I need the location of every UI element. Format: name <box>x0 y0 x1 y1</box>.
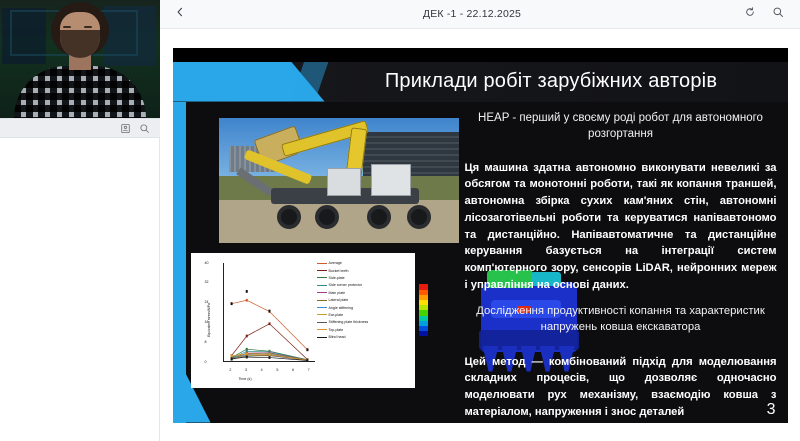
chart-x-tick: 5 <box>276 368 278 372</box>
top-bar: ДЕК -1 - 22.12.2025 <box>160 0 800 29</box>
slide-top-band <box>173 48 788 62</box>
fea-color-band <box>419 331 428 336</box>
chart-legend-swatch <box>317 285 327 286</box>
photo-wheel-2 <box>315 205 339 229</box>
chart-y-tick: 0 <box>205 360 207 364</box>
chevron-left-icon <box>174 5 186 23</box>
chart-legend-swatch <box>317 263 327 264</box>
fea-legend: B: Static Structural Equivalent StressTy… <box>419 254 471 337</box>
chart-y-tick: 8 <box>205 340 207 344</box>
topbar-actions <box>744 5 800 23</box>
chart-x-tick: 3 <box>245 368 247 372</box>
chart-legend-item: Lateral plate <box>317 296 409 303</box>
photo-wheel-4 <box>407 205 431 229</box>
chart-x-tick: 6 <box>292 368 294 372</box>
search-icon[interactable] <box>772 5 784 23</box>
chart-y-tick: 32 <box>205 280 209 284</box>
chart-legend-item: Ear-plate <box>317 311 409 318</box>
photo-wheel-1 <box>277 205 301 229</box>
chart-legend-item: Side-plate <box>317 274 409 281</box>
chart-legend-item: Blind head <box>317 333 409 340</box>
fea-scale-values: 28.62 Max25.4422.2619.08115.90112.7219.5… <box>428 284 450 336</box>
chart-legend-label: Side-plate <box>329 276 345 280</box>
fea-legend-line: 2023/8/24 17:08 <box>419 277 471 282</box>
participant-video-tile[interactable] <box>0 0 160 118</box>
chart-legend-label: Angle stiffening <box>329 306 354 310</box>
chart-legend-label: Stiffening plate thickness <box>329 320 369 324</box>
slide-heading-1: HEAP - перший у своєму роді робот для ав… <box>465 110 777 143</box>
chart-legend-item: Angle stiffening <box>317 304 409 311</box>
webcam-panel <box>0 0 160 441</box>
presentation-slide: Приклади робіт зарубіжних авторів <box>173 48 788 423</box>
chart-legend-swatch <box>317 337 327 338</box>
chart-legend-item: Bucket teeth <box>317 267 409 274</box>
fea-color-scale: 28.62 Max25.4422.2619.08115.90112.7219.5… <box>419 284 471 336</box>
chart-legend-label: Average <box>329 261 342 265</box>
chart-legend-swatch <box>317 307 327 308</box>
fea-legend-meta: Equivalent StressType: Equivalent (von-M… <box>419 258 471 282</box>
excavator-photo <box>219 118 459 243</box>
rotate-icon[interactable] <box>744 5 756 23</box>
photo-cabin-2 <box>371 164 411 196</box>
chart-legend-swatch <box>317 270 327 271</box>
chart-legend-swatch <box>317 329 327 330</box>
chart-legend-swatch <box>317 314 327 315</box>
chart-x-tick: 4 <box>261 368 263 372</box>
chart-inner: Equivalent stress/MPa 0816243240 234567 … <box>193 257 411 384</box>
chart-plot-area <box>223 263 315 362</box>
fea-color-bar <box>419 284 428 336</box>
chart-legend-swatch <box>317 322 327 323</box>
chart-legend-label: Bucket teeth <box>329 269 349 273</box>
chart-legend-label: Main plate <box>329 291 346 295</box>
search-zoom-icon[interactable] <box>139 123 150 134</box>
person-eye-left <box>63 26 71 28</box>
chart-legend-label: Ear-plate <box>329 313 344 317</box>
chart-legend-label: Side corner protector <box>329 283 363 287</box>
page-title: ДЕК -1 - 22.12.2025 <box>200 8 744 20</box>
slide-title: Приклади робіт зарубіжних авторів <box>325 62 778 102</box>
chart-x-tick: 7 <box>308 368 310 372</box>
webcam-toolbar <box>0 118 160 138</box>
slide-body-2: Цей метод — комбінований підхід для моде… <box>465 354 777 421</box>
chart-legend-swatch <box>317 300 327 301</box>
chart-legend-label: Top-plate <box>329 328 344 332</box>
chart-legend: AverageBucket teethSide-plateSide corner… <box>317 260 409 341</box>
slide-heading-2: Дослідження продуктивності копання та ха… <box>465 303 777 335</box>
chart-legend-item: Side corner protector <box>317 282 409 289</box>
chart-legend-swatch <box>317 292 327 293</box>
id-card-icon[interactable] <box>120 123 131 134</box>
chart-legend-swatch <box>317 277 327 278</box>
chart-series-svg <box>224 263 315 361</box>
chart-legend-item: Stiffening plate thickness <box>317 319 409 326</box>
person-eye-right <box>84 26 92 28</box>
slide-number: 3 <box>767 401 776 419</box>
chart-legend-item: Average <box>317 260 409 267</box>
chart-y-tick: 40 <box>205 261 209 265</box>
photo-cabin-1 <box>327 168 361 196</box>
chart-legend-item: Main plate <box>317 289 409 296</box>
chart-x-tick: 2 <box>229 368 231 372</box>
chart-legend-label: Lateral plate <box>329 298 349 302</box>
chart-y-tick: 16 <box>205 320 209 324</box>
chart-y-tick: 24 <box>205 300 209 304</box>
stress-line-chart: Equivalent stress/MPa 0816243240 234567 … <box>191 253 415 388</box>
chart-x-axis-label: Time (s) <box>239 377 252 381</box>
chart-legend-item: Top-plate <box>317 326 409 333</box>
slide-body-1: Ця машина здатна автономно виконувати не… <box>465 160 777 294</box>
fea-scale-value: 0.0029739 Min <box>428 331 450 336</box>
chart-legend-label: Blind head <box>329 335 346 339</box>
back-button[interactable] <box>160 5 200 23</box>
screen-sharing-app: ДЕК -1 - 22.12.2025 Приклади роб <box>0 0 800 441</box>
slide-stage[interactable]: Приклади робіт зарубіжних авторів <box>160 29 800 441</box>
photo-wheel-3 <box>367 205 391 229</box>
